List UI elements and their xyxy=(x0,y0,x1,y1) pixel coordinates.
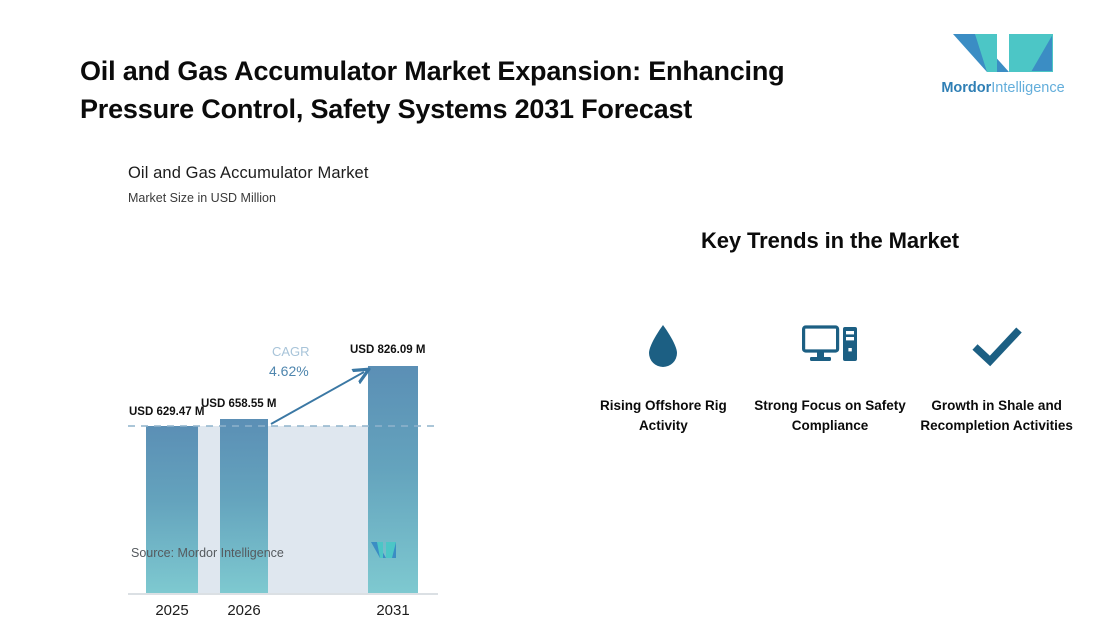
brand-word-bold: Mordor xyxy=(941,80,991,96)
trend-label-safety-compliance: Strong Focus on Safety Compliance xyxy=(753,396,908,435)
trend-item-safety-compliance: Strong Focus on Safety Compliance xyxy=(747,316,914,435)
key-trends-title: Key Trends in the Market xyxy=(580,228,1080,254)
chart-source: Source: Mordor Intelligence xyxy=(131,546,284,560)
water-droplet-icon xyxy=(586,316,741,376)
cagr-value: 4.62% xyxy=(269,363,309,379)
chart-panel: Oil and Gas Accumulator Market Market Si… xyxy=(128,164,458,564)
x-tick-2025: 2025 xyxy=(146,602,198,619)
checkmark-icon xyxy=(919,316,1074,376)
cagr-label: CAGR xyxy=(272,344,310,359)
source-mordor-logo-icon xyxy=(368,540,398,560)
brand-word-light: Intelligence xyxy=(991,80,1064,96)
bar-2025 xyxy=(146,426,198,593)
key-trends-panel: Key Trends in the Market Rising Offshore… xyxy=(580,228,1080,435)
bar-2026 xyxy=(220,419,268,593)
key-trends-row: Rising Offshore Rig Activity Strong Focu… xyxy=(580,316,1080,435)
x-tick-2031: 2031 xyxy=(367,602,419,619)
x-tick-2026: 2026 xyxy=(218,602,270,619)
brand-logo: MordorIntelligence xyxy=(933,30,1073,96)
trend-item-shale-recompletion: Growth in Shale and Recompletion Activit… xyxy=(913,316,1080,435)
cagr-arrow xyxy=(271,372,364,424)
chart-subtitle: Market Size in USD Million xyxy=(128,191,458,205)
page-title: Oil and Gas Accumulator Market Expansion… xyxy=(80,52,890,129)
chart-title: Oil and Gas Accumulator Market xyxy=(128,164,458,183)
mordor-intelligence-logo-icon xyxy=(933,30,1073,76)
brand-wordmark: MordorIntelligence xyxy=(933,81,1073,96)
desktop-computer-icon xyxy=(753,316,908,376)
trend-item-offshore-rig: Rising Offshore Rig Activity xyxy=(580,316,747,435)
trend-label-offshore-rig: Rising Offshore Rig Activity xyxy=(586,396,741,435)
poster-canvas: Oil and Gas Accumulator Market Expansion… xyxy=(0,0,1111,628)
trend-label-shale-recompletion: Growth in Shale and Recompletion Activit… xyxy=(919,396,1074,435)
bar-value-label-2025: USD 629.47 M xyxy=(129,406,204,418)
bar-value-label-2026: USD 658.55 M xyxy=(201,398,276,410)
bar-value-label-2031: USD 826.09 M xyxy=(350,344,425,356)
